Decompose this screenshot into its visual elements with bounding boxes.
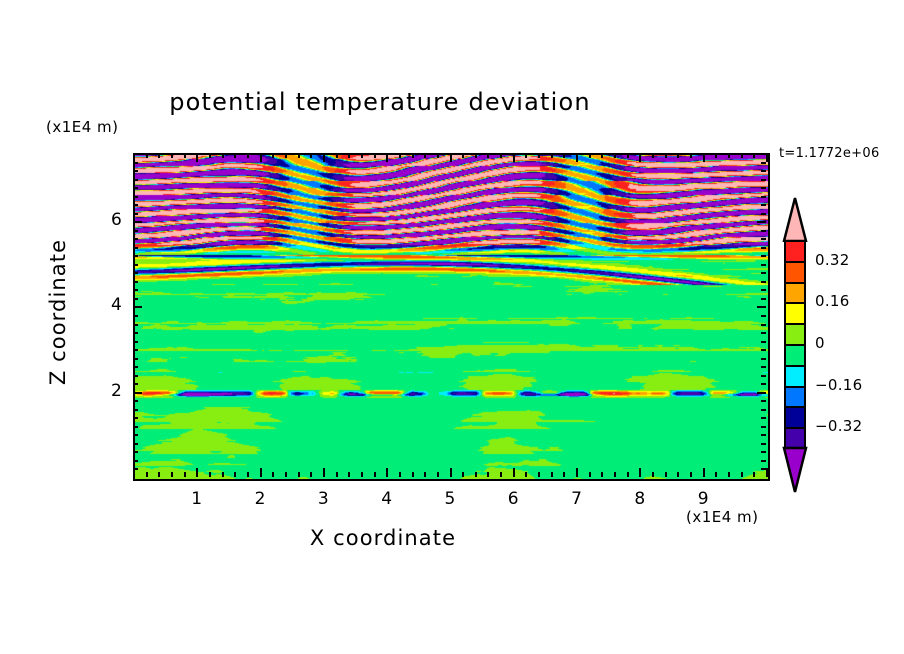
x-tick-top: [171, 153, 173, 158]
x-tick-top: [576, 153, 578, 162]
colorbar-band-1: [786, 263, 804, 284]
z-tick-left: [133, 170, 138, 172]
z-tick-right: [761, 230, 766, 232]
x-tick-top: [627, 153, 629, 158]
x-tick-bottom: [209, 472, 211, 477]
x-tick-bottom: [412, 472, 414, 477]
z-tick-left: [133, 324, 138, 326]
x-tick-top: [665, 153, 667, 158]
z-tick-right: [761, 204, 766, 206]
z-tick-right: [761, 264, 766, 266]
colorbar-band-7: [786, 388, 804, 409]
z-tick-left: [133, 409, 138, 411]
x-tick-bottom: [234, 472, 236, 477]
x-tick-top: [399, 153, 401, 158]
z-tick-left: [133, 289, 138, 291]
x-tick-top: [551, 153, 553, 158]
x-tick-top: [234, 153, 236, 158]
z-tick-left: [133, 272, 138, 274]
x-tick-top: [374, 153, 376, 158]
z-tick-right: [761, 383, 766, 385]
colorbar-band-3: [786, 304, 804, 325]
z-tick-right: [761, 255, 766, 257]
x-tick-top: [272, 153, 274, 158]
x-tick-bottom: [614, 472, 616, 477]
x-tick-bottom: [766, 468, 768, 477]
x-tick-top: [209, 153, 211, 158]
x-tick-top: [538, 153, 540, 158]
colorbar-label-1: 0.16: [815, 292, 850, 310]
x-tick-bottom: [601, 472, 603, 477]
x-tick-bottom: [703, 468, 705, 477]
x-tick-top: [715, 153, 717, 158]
x-tick-bottom: [690, 472, 692, 477]
z-tick-left: [133, 230, 138, 232]
z-tick-left: [133, 221, 142, 223]
x-tick-top: [450, 153, 452, 162]
x-tick-top: [310, 153, 312, 158]
x-tick-bottom: [310, 472, 312, 477]
z-tick-left: [133, 238, 138, 240]
z-tick-left: [133, 417, 138, 419]
x-tick-bottom: [665, 472, 667, 477]
x-tick-label-9: 9: [698, 489, 709, 509]
x-tick-bottom: [285, 472, 287, 477]
z-tick-right: [761, 460, 766, 462]
x-tick-label-1: 1: [191, 489, 202, 509]
x-tick-bottom: [272, 472, 274, 477]
colorbar-label-3: −0.16: [815, 376, 862, 394]
x-tick-bottom: [715, 472, 717, 477]
x-tick-top: [728, 153, 730, 158]
colorbar[interactable]: 0.320.160−0.16−0.32: [781, 196, 809, 492]
x-tick-bottom: [260, 468, 262, 477]
x-tick-bottom: [639, 468, 641, 477]
x-tick-top: [475, 153, 477, 158]
z-tick-right: [761, 400, 766, 402]
x-tick-top: [285, 153, 287, 158]
colorbar-band-2: [786, 284, 804, 305]
x-tick-top: [652, 153, 654, 158]
z-tick-left: [133, 306, 142, 308]
z-tick-right: [761, 332, 766, 334]
colorbar-label-4: −0.32: [815, 417, 862, 435]
z-tick-label-2: 2: [111, 381, 122, 401]
z-tick-right: [761, 272, 766, 274]
x-tick-top: [487, 153, 489, 158]
x-tick-top: [690, 153, 692, 158]
z-tick-right: [761, 162, 766, 164]
x-tick-bottom: [323, 468, 325, 477]
z-tick-left: [133, 358, 138, 360]
z-tick-label-6: 6: [111, 210, 122, 230]
x-axis-unit-label: (x1E4 m): [686, 508, 759, 526]
x-tick-top: [462, 153, 464, 158]
x-tick-top: [247, 153, 249, 158]
z-tick-left: [133, 315, 138, 317]
z-tick-right: [761, 281, 766, 283]
timestamp-annotation: t=1.1772e+06: [779, 146, 880, 161]
z-tick-right: [761, 468, 766, 470]
z-tick-right: [761, 315, 766, 317]
x-tick-label-2: 2: [255, 489, 266, 509]
y-axis-label: Z coordinate: [46, 192, 70, 432]
z-tick-right: [761, 247, 766, 249]
x-tick-top: [500, 153, 502, 158]
x-tick-top: [298, 153, 300, 158]
z-tick-right: [761, 341, 766, 343]
z-tick-right: [761, 324, 766, 326]
x-tick-top: [158, 153, 160, 158]
x-tick-bottom: [563, 472, 565, 477]
plot-title: potential temperature deviation: [0, 88, 760, 116]
x-tick-bottom: [741, 472, 743, 477]
x-tick-bottom: [196, 468, 198, 477]
z-tick-left: [133, 187, 138, 189]
x-tick-bottom: [475, 472, 477, 477]
x-tick-top: [184, 153, 186, 158]
x-tick-top: [222, 153, 224, 158]
z-tick-left: [133, 162, 138, 164]
x-tick-bottom: [576, 468, 578, 477]
z-tick-right: [761, 451, 766, 453]
x-tick-bottom: [627, 472, 629, 477]
x-tick-top: [437, 153, 439, 158]
z-tick-left: [133, 179, 138, 181]
colorbar-band-6: [786, 367, 804, 388]
x-tick-top: [614, 153, 616, 158]
x-tick-label-6: 6: [508, 489, 519, 509]
figure-canvas: potential temperature deviation (x1E4 m)…: [0, 0, 904, 654]
x-tick-top: [677, 153, 679, 158]
x-tick-bottom: [374, 472, 376, 477]
x-tick-bottom: [386, 468, 388, 477]
z-tick-right: [761, 358, 766, 360]
x-tick-top: [639, 153, 641, 162]
colorbar-bands: [784, 240, 806, 448]
z-tick-right: [761, 434, 766, 436]
z-tick-left: [133, 443, 138, 445]
z-tick-right: [757, 306, 766, 308]
x-tick-bottom: [462, 472, 464, 477]
x-tick-top: [336, 153, 338, 158]
x-tick-top: [260, 153, 262, 162]
x-tick-top: [361, 153, 363, 158]
x-tick-bottom: [298, 472, 300, 477]
x-tick-label-8: 8: [634, 489, 645, 509]
x-tick-bottom: [538, 472, 540, 477]
x-tick-bottom: [146, 472, 148, 477]
x-tick-bottom: [437, 472, 439, 477]
colorbar-band-0: [786, 242, 804, 263]
z-tick-left: [133, 375, 138, 377]
x-tick-top: [589, 153, 591, 158]
x-tick-bottom: [728, 472, 730, 477]
z-tick-right: [761, 213, 766, 215]
z-tick-right: [761, 298, 766, 300]
z-tick-left: [133, 366, 138, 368]
x-tick-top: [741, 153, 743, 158]
z-tick-right: [761, 375, 766, 377]
z-tick-left: [133, 460, 138, 462]
x-tick-bottom: [158, 472, 160, 477]
colorbar-band-5: [786, 346, 804, 367]
x-tick-top: [348, 153, 350, 158]
x-tick-bottom: [222, 472, 224, 477]
z-tick-left: [133, 426, 138, 428]
z-tick-left: [133, 341, 138, 343]
colorbar-under-arrow: [781, 446, 809, 494]
contour-field: [135, 155, 768, 479]
z-tick-right: [761, 238, 766, 240]
z-tick-left: [133, 298, 138, 300]
z-tick-left: [133, 213, 138, 215]
colorbar-label-2: 0: [815, 334, 825, 352]
z-tick-left: [133, 332, 138, 334]
z-axis-unit-label: (x1E4 m): [46, 118, 119, 136]
z-tick-right: [761, 170, 766, 172]
x-tick-bottom: [424, 472, 426, 477]
z-tick-right: [761, 349, 766, 351]
x-tick-top: [323, 153, 325, 162]
x-tick-bottom: [551, 472, 553, 477]
z-tick-right: [761, 179, 766, 181]
x-tick-bottom: [348, 472, 350, 477]
x-tick-bottom: [171, 472, 173, 477]
x-tick-top: [753, 153, 755, 158]
x-tick-top: [146, 153, 148, 158]
x-tick-bottom: [184, 472, 186, 477]
z-tick-left: [133, 204, 138, 206]
x-tick-bottom: [247, 472, 249, 477]
x-tick-label-4: 4: [381, 489, 392, 509]
x-tick-top: [386, 153, 388, 162]
x-tick-bottom: [753, 472, 755, 477]
z-tick-right: [757, 392, 766, 394]
x-tick-bottom: [677, 472, 679, 477]
x-tick-bottom: [450, 468, 452, 477]
z-tick-label-4: 4: [111, 295, 122, 315]
x-axis-label: X coordinate: [0, 526, 766, 550]
z-tick-left: [133, 434, 138, 436]
x-tick-label-5: 5: [445, 489, 456, 509]
z-tick-right: [761, 443, 766, 445]
z-tick-left: [133, 400, 138, 402]
colorbar-band-4: [786, 325, 804, 346]
z-tick-right: [761, 196, 766, 198]
z-tick-left: [133, 349, 138, 351]
z-tick-left: [133, 451, 138, 453]
x-tick-bottom: [589, 472, 591, 477]
z-tick-right: [761, 366, 766, 368]
z-tick-right: [761, 417, 766, 419]
z-tick-left: [133, 468, 138, 470]
z-tick-left: [133, 392, 142, 394]
z-tick-left: [133, 383, 138, 385]
z-tick-right: [757, 221, 766, 223]
x-tick-top: [766, 153, 768, 162]
colorbar-label-0: 0.32: [815, 251, 850, 269]
z-tick-left: [133, 264, 138, 266]
z-tick-left: [133, 247, 138, 249]
x-tick-bottom: [652, 472, 654, 477]
x-tick-bottom: [361, 472, 363, 477]
colorbar-band-8: [786, 408, 804, 429]
x-tick-top: [196, 153, 198, 162]
x-tick-label-7: 7: [571, 489, 582, 509]
z-tick-right: [761, 187, 766, 189]
x-tick-label-3: 3: [318, 489, 329, 509]
x-tick-top: [412, 153, 414, 158]
x-tick-bottom: [399, 472, 401, 477]
x-tick-top: [703, 153, 705, 162]
x-tick-top: [563, 153, 565, 158]
colorbar-over-arrow: [781, 196, 809, 242]
z-tick-left: [133, 281, 138, 283]
x-tick-bottom: [525, 472, 527, 477]
z-tick-right: [761, 289, 766, 291]
x-tick-bottom: [336, 472, 338, 477]
z-tick-right: [761, 426, 766, 428]
z-tick-left: [133, 196, 138, 198]
z-tick-left: [133, 255, 138, 257]
x-tick-bottom: [487, 472, 489, 477]
plot-area: [133, 153, 770, 481]
x-tick-top: [513, 153, 515, 162]
x-tick-top: [525, 153, 527, 158]
x-tick-top: [424, 153, 426, 158]
x-tick-bottom: [513, 468, 515, 477]
x-tick-bottom: [500, 472, 502, 477]
x-tick-top: [601, 153, 603, 158]
z-tick-right: [761, 409, 766, 411]
